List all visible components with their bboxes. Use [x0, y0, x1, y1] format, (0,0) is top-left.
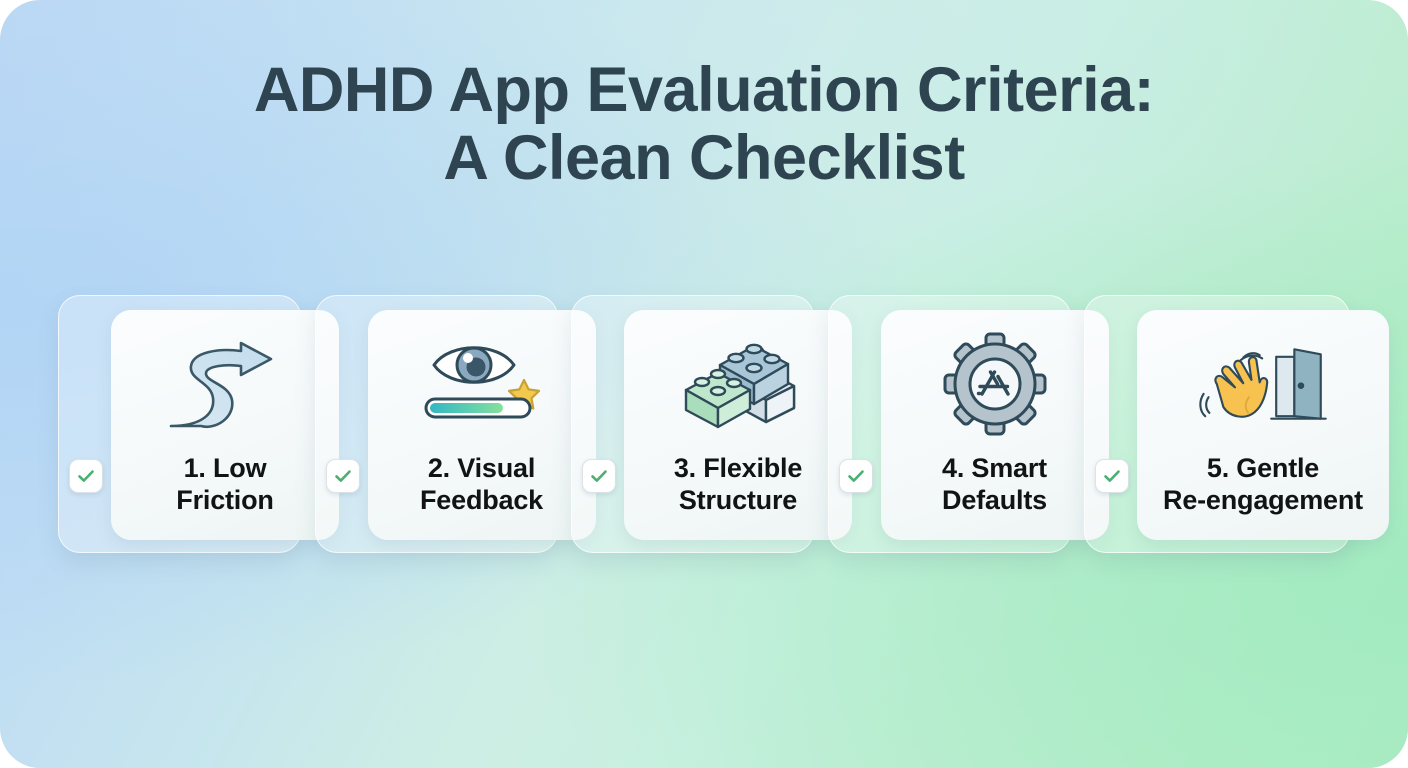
checkbox-low-friction[interactable]	[69, 459, 103, 493]
card-label-flexible-structure: 3. Flexible Structure	[638, 452, 838, 516]
checkbox-smart-defaults[interactable]	[839, 459, 873, 493]
card-label-line-1: 4. Smart	[942, 453, 1047, 483]
criteria-card-flexible-structure[interactable]: 3. Flexible Structure	[571, 295, 814, 553]
card-label-smart-defaults: 4. Smart Defaults	[895, 452, 1095, 516]
card-label-low-friction: 1. Low Friction	[125, 452, 325, 516]
eye-progress-star-icon	[416, 332, 548, 436]
card-tile: 1. Low Friction	[111, 310, 339, 540]
card-tile: 2. Visual Feedback	[368, 310, 596, 540]
card-tile: 3. Flexible Structure	[624, 310, 852, 540]
gear-app-store-icon	[929, 332, 1061, 436]
card-label-line-2: Feedback	[420, 485, 543, 515]
card-tile: 5. Gentle Re-engagement	[1137, 310, 1389, 540]
criteria-card-gentle-re-engagement[interactable]: 5. Gentle Re-engagement	[1084, 295, 1350, 553]
card-label-line-2: Structure	[679, 485, 797, 515]
criteria-card-low-friction[interactable]: 1. Low Friction	[58, 295, 301, 553]
winding-road-arrow-icon	[159, 332, 291, 436]
card-label-line-2: Friction	[176, 485, 273, 515]
card-label-line-1: 3. Flexible	[674, 453, 802, 483]
waving-hand-open-door-icon	[1197, 332, 1329, 436]
card-label-line-1: 5. Gentle	[1207, 453, 1319, 483]
criteria-card-visual-feedback[interactable]: 2. Visual Feedback	[315, 295, 558, 553]
card-label-line-1: 1. Low	[184, 453, 267, 483]
card-label-line-1: 2. Visual	[428, 453, 535, 483]
checkbox-visual-feedback[interactable]	[326, 459, 360, 493]
checkbox-gentle-re-engagement[interactable]	[1095, 459, 1129, 493]
checkbox-flexible-structure[interactable]	[582, 459, 616, 493]
card-label-gentle-re-engagement: 5. Gentle Re-engagement	[1147, 452, 1379, 516]
page-title: ADHD App Evaluation Criteria: A Clean Ch…	[0, 56, 1408, 192]
infographic-canvas: ADHD App Evaluation Criteria: A Clean Ch…	[0, 0, 1408, 768]
card-label-line-2: Re-engagement	[1163, 485, 1363, 515]
title-line-1: ADHD App Evaluation Criteria:	[0, 56, 1408, 124]
criteria-card-smart-defaults[interactable]: 4. Smart Defaults	[828, 295, 1071, 553]
criteria-card-row: 1. Low Friction	[58, 295, 1350, 553]
card-tile: 4. Smart Defaults	[881, 310, 1109, 540]
card-label-line-2: Defaults	[942, 485, 1047, 515]
lego-bricks-icon	[672, 332, 804, 436]
card-label-visual-feedback: 2. Visual Feedback	[382, 452, 582, 516]
title-line-2: A Clean Checklist	[0, 124, 1408, 192]
